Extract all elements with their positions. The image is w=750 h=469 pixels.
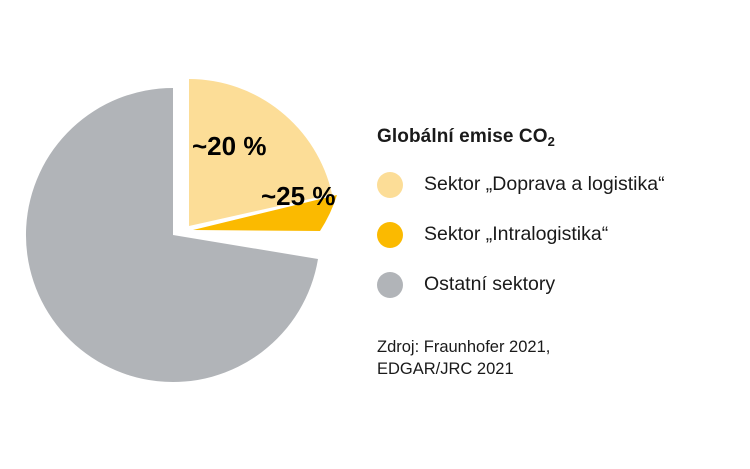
legend-label-other-sectors: Ostatní sektory (424, 275, 555, 295)
legend-item-other-sectors: Ostatní sektory (377, 272, 737, 298)
chart-title: Globální emise CO2 (377, 126, 737, 148)
legend-item-transport-logistics: Sektor „Doprava a logistika“ (377, 172, 737, 198)
legend-label-intralogistics: Sektor „Intralogistika“ (424, 225, 608, 245)
legend-item-intralogistics: Sektor „Intralogistika“ (377, 222, 737, 248)
source-note: Zdroj: Fraunhofer 2021, EDGAR/JRC 2021 (377, 336, 550, 381)
legend-swatch-other-icon (377, 272, 403, 298)
chart-legend: Globální emise CO2 Sektor „Doprava a log… (377, 126, 737, 322)
chart-title-text: Globální emise CO (377, 126, 548, 147)
legend-label-transport-logistics: Sektor „Doprava a logistika“ (424, 175, 665, 195)
legend-swatch-intralogistics-icon (377, 222, 403, 248)
legend-swatch-transport-icon (377, 172, 403, 198)
pie-label-intralogistics: ~25 % (261, 181, 335, 211)
pie-label-transport-logistics: ~20 % (192, 131, 266, 161)
chart-title-subscript: 2 (548, 134, 555, 149)
pie-chart-figure: ~20 % ~25 % Globální emise CO2 Sektor „D… (0, 0, 750, 469)
